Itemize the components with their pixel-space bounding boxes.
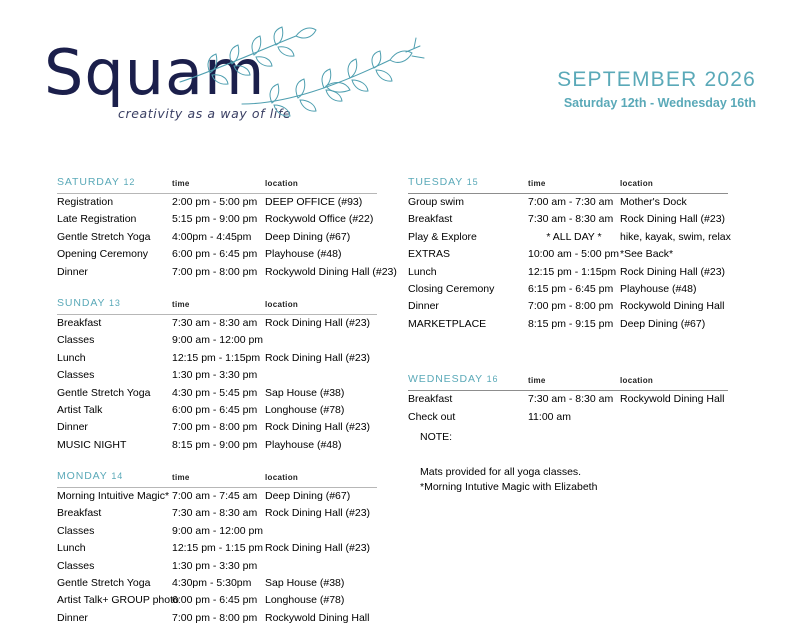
- schedule-row: Breakfast7:30 am - 8:30 amRock Dining Ha…: [57, 315, 377, 332]
- day-number: 13: [109, 298, 121, 308]
- schedule-row: Opening Ceremony6:00 pm - 6:45 pmPlayhou…: [57, 246, 377, 263]
- day-header: SUNDAY 13timelocation: [57, 297, 377, 315]
- day-title: SATURDAY 12: [57, 176, 135, 188]
- event-location: Mother's Dock: [620, 196, 687, 208]
- note-block: NOTE: Mats provided for all yoga classes…: [420, 430, 597, 495]
- event-location: DEEP OFFICE (#93): [265, 196, 362, 208]
- event-name: Breakfast: [408, 213, 452, 225]
- schedule-row: Classes1:30 pm - 3:30 pm: [57, 558, 377, 575]
- event-name: Classes: [57, 560, 94, 572]
- day-block-tuesday: TUESDAY 15timelocationGroup swim7:00 am …: [408, 176, 728, 333]
- schedule-row: Closing Ceremony6:15 pm - 6:45 pmPlayhou…: [408, 281, 728, 298]
- event-name: Dinner: [57, 612, 88, 624]
- event-time: 7:30 am - 8:30 am: [172, 507, 257, 519]
- event-location: Longhouse (#78): [265, 594, 344, 606]
- event-time: 7:30 am - 8:30 am: [172, 317, 257, 329]
- column-header-time: time: [172, 300, 190, 309]
- event-location: Rockywold Dining Hall: [265, 612, 369, 624]
- day-header: TUESDAY 15timelocation: [408, 176, 728, 194]
- schedule-row: Gentle Stretch Yoga4:00pm - 4:45pmDeep D…: [57, 229, 377, 246]
- day-header: WEDNESDAY 16timelocation: [408, 373, 728, 391]
- event-date-range: Saturday 12th - Wednesday 16th: [557, 96, 756, 110]
- event-location: Rockywold Dining Hall: [620, 300, 724, 312]
- event-time: 7:00 am - 7:45 am: [172, 490, 257, 502]
- day-number: 15: [467, 177, 479, 187]
- event-location: Longhouse (#78): [265, 404, 344, 416]
- schedule-row: Breakfast7:30 am - 8:30 amRockywold Dini…: [408, 391, 728, 408]
- event-time: 7:30 am - 8:30 am: [528, 213, 613, 225]
- event-location: hike, kayak, swim, relax: [620, 231, 731, 243]
- day-number: 16: [487, 374, 499, 384]
- schedule-row: Breakfast7:30 am - 8:30 amRock Dining Ha…: [57, 505, 377, 522]
- schedule-row: Play & Explore* ALL DAY *hike, kayak, sw…: [408, 229, 728, 246]
- schedule-row: Dinner7:00 pm - 8:00 pmRock Dining Hall …: [57, 419, 377, 436]
- event-time: 1:30 pm - 3:30 pm: [172, 560, 257, 572]
- event-location: Rock Dining Hall (#23): [620, 213, 725, 225]
- note-title: NOTE:: [420, 430, 597, 445]
- event-name: Classes: [57, 334, 94, 346]
- event-name: Breakfast: [57, 507, 101, 519]
- event-time: 7:00 am - 7:30 am: [528, 196, 613, 208]
- event-location: Rock Dining Hall (#23): [265, 542, 370, 554]
- event-name: Dinner: [57, 266, 88, 278]
- day-header: MONDAY 14timelocation: [57, 470, 377, 488]
- event-location: Deep Dining (#67): [265, 231, 350, 243]
- event-name: EXTRAS: [408, 248, 450, 260]
- day-title: TUESDAY 15: [408, 176, 479, 188]
- event-name: Group swim: [408, 196, 464, 208]
- column-header-time: time: [528, 376, 546, 385]
- event-name: Artist Talk+ GROUP photo: [57, 594, 179, 606]
- column-header-time: time: [172, 473, 190, 482]
- schedule-row: Classes9:00 am - 12:00 pm: [57, 523, 377, 540]
- event-time: 7:00 pm - 8:00 pm: [172, 612, 257, 624]
- event-name: Gentle Stretch Yoga: [57, 387, 150, 399]
- column-header-time: time: [172, 179, 190, 188]
- event-date-block: SEPTEMBER 2026 Saturday 12th - Wednesday…: [557, 68, 756, 110]
- schedule-row: Group swim7:00 am - 7:30 amMother's Dock: [408, 194, 728, 211]
- event-name: Lunch: [57, 352, 86, 364]
- event-name: Breakfast: [408, 393, 452, 405]
- schedule-row: Late Registration5:15 pm - 9:00 pmRockyw…: [57, 211, 377, 228]
- schedule-row: Artist Talk+ GROUP photo6:00 pm - 6:45 p…: [57, 592, 377, 609]
- schedule-row: Check out11:00 am: [408, 409, 728, 426]
- event-location: Deep Dining (#67): [265, 490, 350, 502]
- event-time: 12:15 pm - 1:15pm: [528, 266, 616, 278]
- event-time: 6:00 pm - 6:45 pm: [172, 248, 257, 260]
- schedule-row: Classes1:30 pm - 3:30 pm: [57, 367, 377, 384]
- schedule-row: Registration2:00 pm - 5:00 pmDEEP OFFICE…: [57, 194, 377, 211]
- schedule-row: Gentle Stretch Yoga4:30 pm - 5:45 pmSap …: [57, 385, 377, 402]
- event-time: 12:15 pm - 1:15 pm: [172, 542, 263, 554]
- note-line: *Morning Intutive Magic with Elizabeth: [420, 480, 597, 495]
- event-time: 4:30pm - 5:30pm: [172, 577, 251, 589]
- event-time: 8:15 pm - 9:15 pm: [528, 318, 613, 330]
- event-time: 9:00 am - 12:00 pm: [172, 525, 263, 537]
- event-name: MUSIC NIGHT: [57, 439, 126, 451]
- event-time: 6:15 pm - 6:45 pm: [528, 283, 613, 295]
- event-location: Rock Dining Hall (#23): [265, 507, 370, 519]
- event-name: Breakfast: [57, 317, 101, 329]
- event-location: Rockywold Office (#22): [265, 213, 373, 225]
- event-name: Lunch: [408, 266, 437, 278]
- event-time: 12:15 pm - 1:15pm: [172, 352, 260, 364]
- day-number: 12: [123, 177, 135, 187]
- event-time: 7:00 pm - 8:00 pm: [172, 421, 257, 433]
- event-name: Classes: [57, 369, 94, 381]
- event-location: Playhouse (#48): [265, 439, 341, 451]
- day-block-wednesday: WEDNESDAY 16timelocationBreakfast7:30 am…: [408, 373, 728, 426]
- event-name: Play & Explore: [408, 231, 477, 243]
- event-name: Dinner: [408, 300, 439, 312]
- event-location: Rock Dining Hall (#23): [620, 266, 725, 278]
- schedule-row: Classes9:00 am - 12:00 pm: [57, 332, 377, 349]
- event-time: 4:00pm - 4:45pm: [172, 231, 251, 243]
- day-block-saturday: SATURDAY 12timelocationRegistration2:00 …: [57, 176, 377, 281]
- event-name: Gentle Stretch Yoga: [57, 231, 150, 243]
- botanical-sprig-decoration: [176, 24, 446, 144]
- event-name: Gentle Stretch Yoga: [57, 577, 150, 589]
- day-header: SATURDAY 12timelocation: [57, 176, 377, 194]
- event-location: *See Back*: [620, 248, 673, 260]
- event-time: * ALL DAY *: [528, 231, 620, 243]
- event-time: 9:00 am - 12:00 pm: [172, 334, 263, 346]
- event-location: Rock Dining Hall (#23): [265, 421, 370, 433]
- schedule-column-right: TUESDAY 15timelocationGroup swim7:00 am …: [408, 176, 728, 442]
- event-name: Artist Talk: [57, 404, 102, 416]
- event-time: 10:00 am - 5:00 pm: [528, 248, 619, 260]
- event-time: 4:30 pm - 5:45 pm: [172, 387, 257, 399]
- schedule-row: Dinner7:00 pm - 8:00 pmRockywold Dining …: [57, 264, 377, 281]
- event-location: Playhouse (#48): [265, 248, 341, 260]
- schedule-row: Lunch12:15 pm - 1:15pmRock Dining Hall (…: [57, 350, 377, 367]
- page-header: Squam creativity as a way of life: [0, 0, 792, 160]
- event-location: Rock Dining Hall (#23): [265, 352, 370, 364]
- event-time: 7:00 pm - 8:00 pm: [528, 300, 613, 312]
- event-name: Late Registration: [57, 213, 136, 225]
- schedule-row: Breakfast7:30 am - 8:30 amRock Dining Ha…: [408, 211, 728, 228]
- event-location: Playhouse (#48): [620, 283, 696, 295]
- schedule-row: Lunch12:15 pm - 1:15pmRock Dining Hall (…: [408, 264, 728, 281]
- schedule-row: Morning Intuitive Magic*7:00 am - 7:45 a…: [57, 488, 377, 505]
- event-time: 6:00 pm - 6:45 pm: [172, 404, 257, 416]
- column-header-location: location: [265, 473, 298, 482]
- day-number: 14: [111, 471, 123, 481]
- event-name: Classes: [57, 525, 94, 537]
- event-name: Morning Intuitive Magic*: [57, 490, 169, 502]
- day-title: SUNDAY 13: [57, 297, 121, 309]
- event-location: Rockywold Dining Hall (#23): [265, 266, 397, 278]
- event-name: Dinner: [57, 421, 88, 433]
- event-month: SEPTEMBER 2026: [557, 68, 756, 92]
- event-time: 2:00 pm - 5:00 pm: [172, 196, 257, 208]
- schedule-row: Dinner7:00 pm - 8:00 pmRockywold Dining …: [408, 298, 728, 315]
- day-title: WEDNESDAY 16: [408, 373, 498, 385]
- day-title: MONDAY 14: [57, 470, 123, 482]
- event-location: Rockywold Dining Hall: [620, 393, 724, 405]
- schedule-row: Artist Talk6:00 pm - 6:45 pmLonghouse (#…: [57, 402, 377, 419]
- event-name: Opening Ceremony: [57, 248, 148, 260]
- event-location: Sap House (#38): [265, 577, 344, 589]
- schedule-row: MUSIC NIGHT8:15 pm - 9:00 pmPlayhouse (#…: [57, 437, 377, 454]
- event-time: 1:30 pm - 3:30 pm: [172, 369, 257, 381]
- column-header-location: location: [265, 179, 298, 188]
- day-block-sunday: SUNDAY 13timelocationBreakfast7:30 am - …: [57, 297, 377, 454]
- note-lines: Mats provided for all yoga classes.*Morn…: [420, 465, 597, 495]
- schedule-column-left: SATURDAY 12timelocationRegistration2:00 …: [57, 176, 377, 643]
- column-header-location: location: [620, 376, 653, 385]
- column-header-time: time: [528, 179, 546, 188]
- schedule-row: Lunch12:15 pm - 1:15 pmRock Dining Hall …: [57, 540, 377, 557]
- column-header-location: location: [265, 300, 298, 309]
- schedule-row: MARKETPLACE8:15 pm - 9:15 pmDeep Dining …: [408, 316, 728, 333]
- event-name: MARKETPLACE: [408, 318, 486, 330]
- event-time: 5:15 pm - 9:00 pm: [172, 213, 257, 225]
- event-location: Deep Dining (#67): [620, 318, 705, 330]
- event-location: Sap House (#38): [265, 387, 344, 399]
- event-time: 7:30 am - 8:30 am: [528, 393, 613, 405]
- event-time: 8:15 pm - 9:00 pm: [172, 439, 257, 451]
- event-time: 11:00 am: [528, 411, 571, 423]
- day-block-monday: MONDAY 14timelocationMorning Intuitive M…: [57, 470, 377, 627]
- schedule-row: EXTRAS10:00 am - 5:00 pm*See Back*: [408, 246, 728, 263]
- event-time: 6:00 pm - 6:45 pm: [172, 594, 257, 606]
- schedule-row: Dinner7:00 pm - 8:00 pmRockywold Dining …: [57, 610, 377, 627]
- event-name: Lunch: [57, 542, 86, 554]
- event-name: Check out: [408, 411, 455, 423]
- schedule-row: Gentle Stretch Yoga4:30pm - 5:30pmSap Ho…: [57, 575, 377, 592]
- event-location: Rock Dining Hall (#23): [265, 317, 370, 329]
- column-header-location: location: [620, 179, 653, 188]
- event-name: Registration: [57, 196, 113, 208]
- event-time: 7:00 pm - 8:00 pm: [172, 266, 257, 278]
- event-name: Closing Ceremony: [408, 283, 494, 295]
- note-line: Mats provided for all yoga classes.: [420, 465, 597, 480]
